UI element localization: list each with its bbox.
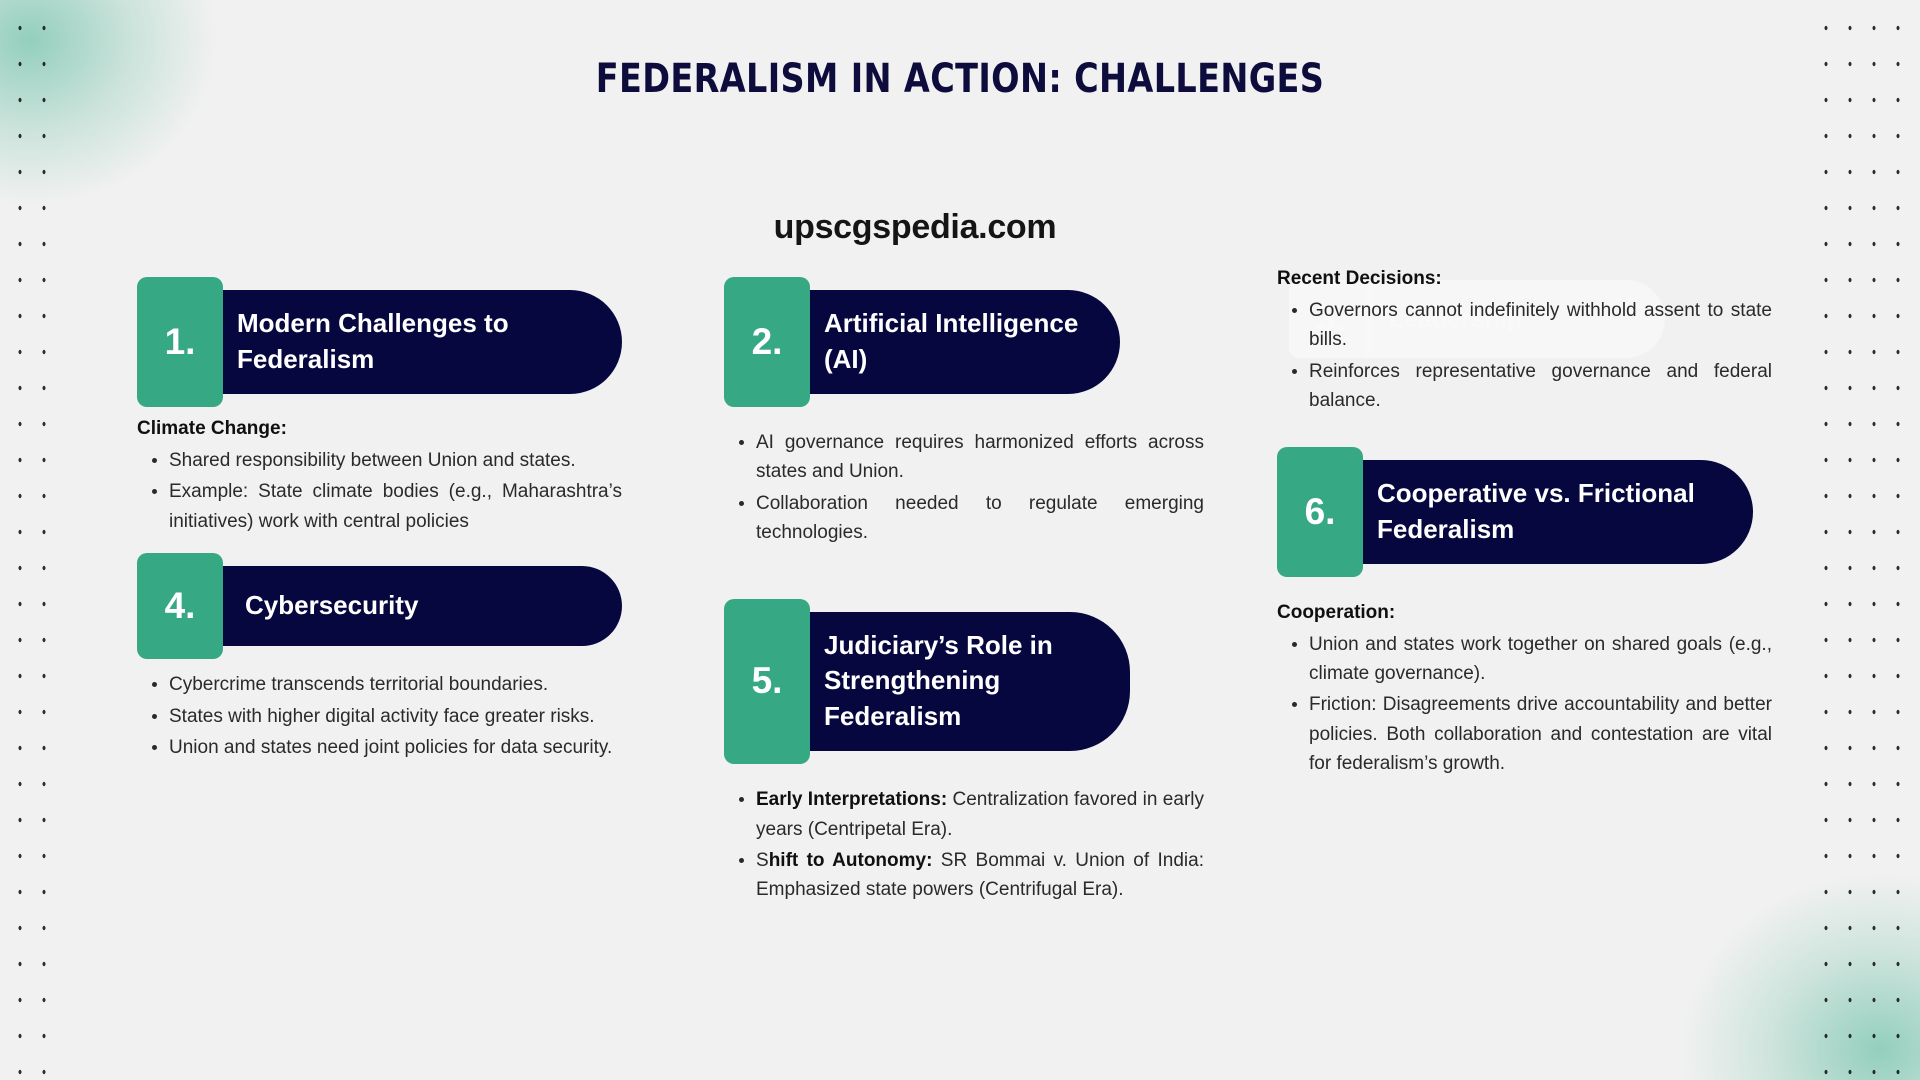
- card-header-6: 6. Cooperative vs. Frictional Federalism: [1277, 460, 1772, 564]
- content-columns: 1. Modern Challenges to Federalism Clima…: [0, 290, 1920, 990]
- card-number-badge: 6.: [1277, 447, 1363, 577]
- bullet-list: Cybercrime transcends territorial bounda…: [137, 670, 622, 762]
- card-header-2: 2. Artificial Intelligence (AI): [724, 290, 1204, 394]
- card-header-1: 1. Modern Challenges to Federalism: [137, 290, 622, 394]
- block-title: Cooperation:: [1277, 602, 1772, 624]
- column-1: 1. Modern Challenges to Federalism Clima…: [137, 290, 622, 764]
- list-item: Cybercrime transcends territorial bounda…: [169, 670, 622, 699]
- bullet-list: Governors cannot indefinitely withhold a…: [1277, 296, 1772, 416]
- card-heading: Artificial Intelligence (AI): [800, 290, 1120, 394]
- card-heading: Modern Challenges to Federalism: [213, 290, 622, 394]
- site-name: upscgspedia.com: [0, 208, 1830, 247]
- card-heading: Cooperative vs. Frictional Federalism: [1353, 460, 1753, 564]
- list-item: Friction: Disagreements drive accountabi…: [1309, 690, 1772, 778]
- card-number-badge: 5.: [724, 599, 810, 765]
- list-item: Early Interpretations: Centralization fa…: [756, 785, 1204, 844]
- column-3: 3. Leadership Recent Decisions: Governor…: [1277, 290, 1772, 781]
- bullet-bold-lead: hift to Autonomy:: [769, 850, 933, 871]
- page-title: FEDERALISM IN ACTION: CHALLENGES: [67, 56, 1853, 102]
- card-number-badge: 1.: [137, 277, 223, 407]
- block-title: Recent Decisions:: [1277, 268, 1772, 290]
- bullet-list: AI governance requires harmonized effort…: [724, 428, 1204, 548]
- column-3-content: Recent Decisions: Governors cannot indef…: [1277, 268, 1772, 779]
- card-number-badge: 4.: [137, 553, 223, 659]
- card-heading: Judiciary’s Role in Strengthening Federa…: [800, 612, 1130, 752]
- card-body-2: AI governance requires harmonized effort…: [724, 428, 1204, 548]
- list-item: Union and states need joint policies for…: [169, 733, 622, 762]
- card-body-5: Early Interpretations: Centralization fa…: [724, 785, 1204, 905]
- list-item: Example: State climate bodies (e.g., Mah…: [169, 477, 622, 536]
- column-2: 2. Artificial Intelligence (AI) AI gover…: [724, 290, 1204, 907]
- list-item: Shift to Autonomy: SR Bommai v. Union of…: [756, 846, 1204, 905]
- card-header-4: 4. Cybersecurity: [137, 566, 622, 646]
- block-title: Climate Change:: [137, 418, 622, 440]
- list-item: Shared responsibility between Union and …: [169, 446, 622, 475]
- card-body-4: Cybercrime transcends territorial bounda…: [137, 670, 622, 762]
- list-item: Union and states work together on shared…: [1309, 630, 1772, 689]
- list-item: AI governance requires harmonized effort…: [756, 428, 1204, 487]
- list-item: Reinforces representative governance and…: [1309, 357, 1772, 416]
- card-number-badge: 2.: [724, 277, 810, 407]
- list-item: States with higher digital activity face…: [169, 702, 622, 731]
- card-body-1: Climate Change: Shared responsibility be…: [137, 418, 622, 536]
- card-heading: Cybersecurity: [213, 566, 622, 646]
- bullet-list: Union and states work together on shared…: [1277, 630, 1772, 779]
- list-item: Governors cannot indefinitely withhold a…: [1309, 296, 1772, 355]
- card-body-6: Cooperation: Union and states work toget…: [1277, 602, 1772, 779]
- bullet-list: Shared responsibility between Union and …: [137, 446, 622, 536]
- bullet-lead-char: S: [756, 850, 769, 871]
- bullet-bold-lead: Early Interpretations:: [756, 789, 947, 810]
- card-header-5: 5. Judiciary’s Role in Strengthening Fed…: [724, 612, 1204, 752]
- recent-decisions-block: Recent Decisions: Governors cannot indef…: [1277, 268, 1772, 416]
- list-item: Collaboration needed to regulate emergin…: [756, 489, 1204, 548]
- bullet-list: Early Interpretations: Centralization fa…: [724, 785, 1204, 905]
